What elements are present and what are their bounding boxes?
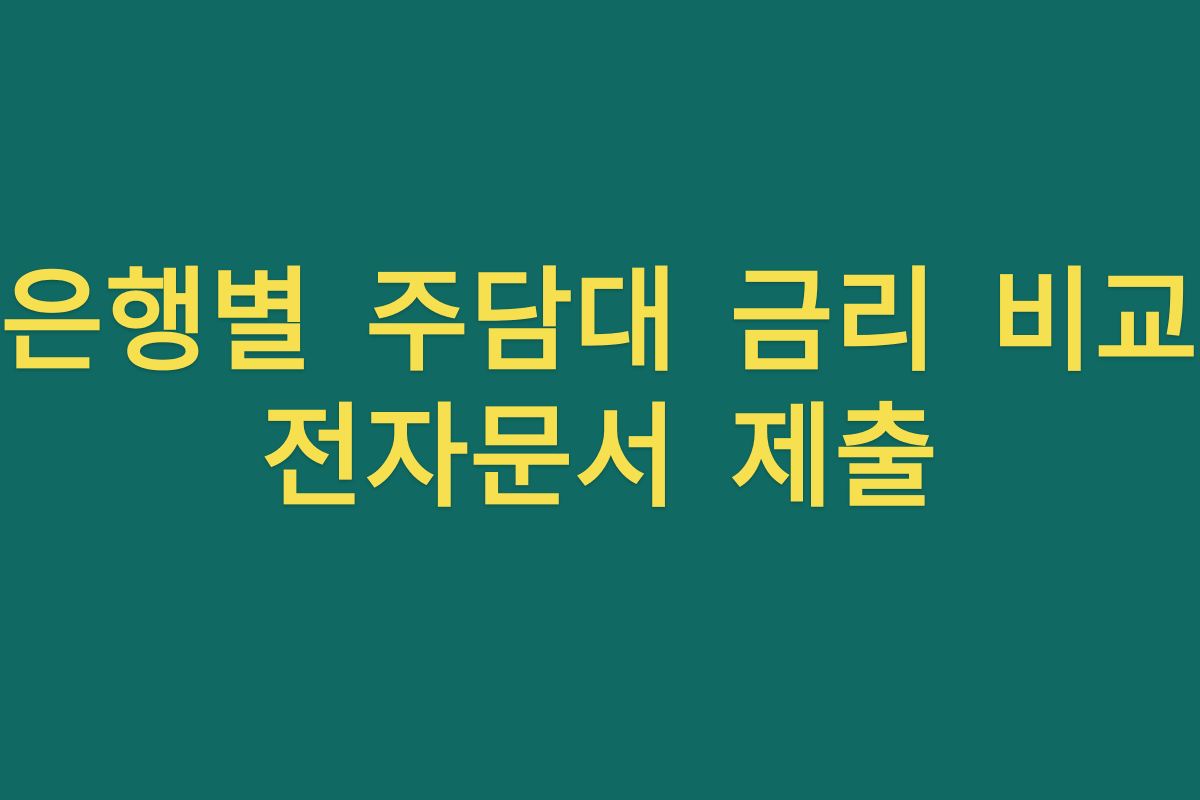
headline-line-2: 전자문서 제출 [261,392,939,524]
headline-block: 은행별 주담대 금리 비교 전자문서 제출 [0,256,1200,524]
headline-line-1: 은행별 주담대 금리 비교 [1,256,1199,388]
thumbnail-canvas: 은행별 주담대 금리 비교 전자문서 제출 [0,0,1200,800]
